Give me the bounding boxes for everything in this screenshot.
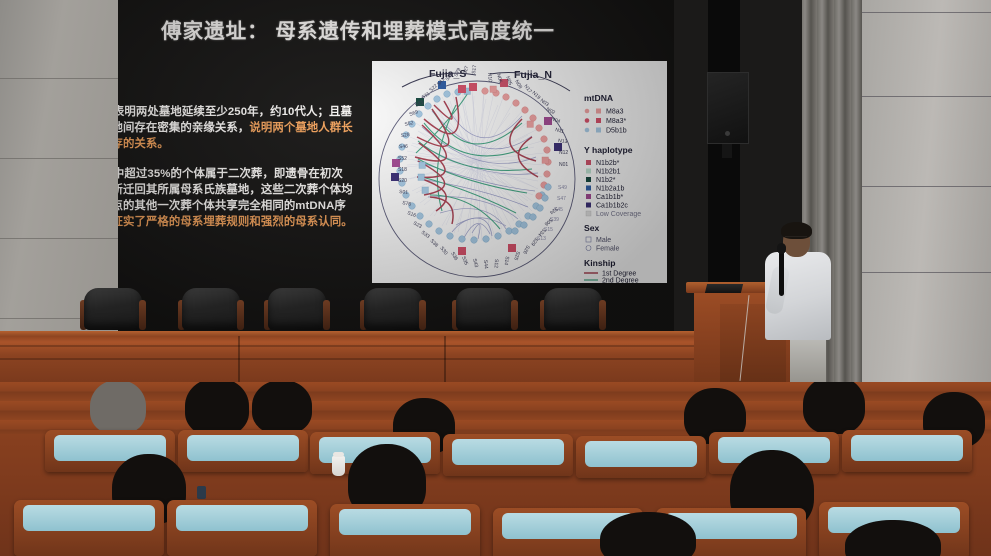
audience-seat[interactable] bbox=[576, 436, 706, 478]
svg-text:1st Degree: 1st Degree bbox=[602, 271, 636, 278]
svg-text:Ca1b1b2c: Ca1b1b2c bbox=[596, 203, 628, 210]
svg-text:D5b1b: D5b1b bbox=[606, 128, 627, 135]
svg-text:mtDNA: mtDNA bbox=[584, 93, 613, 103]
audience-seat[interactable] bbox=[14, 500, 164, 556]
phone-device bbox=[197, 486, 206, 499]
bullet-2-highlight: 进一步证实了严格的母系埋葬规则和强烈的母系认同。 bbox=[118, 216, 353, 228]
speaker-mount bbox=[722, 144, 732, 158]
podium-laptop bbox=[705, 284, 743, 293]
audience-seat[interactable] bbox=[178, 430, 308, 472]
svg-text:S15: S15 bbox=[544, 227, 553, 233]
svg-text:2nd Degree: 2nd Degree bbox=[602, 278, 639, 284]
audience-seat[interactable] bbox=[330, 504, 480, 556]
svg-text:S49: S49 bbox=[558, 185, 567, 191]
svg-text:S44: S44 bbox=[482, 260, 489, 270]
svg-text:Female: Female bbox=[596, 246, 619, 253]
y-hap-marker bbox=[458, 247, 466, 255]
network-svg: Fujia_S Fujia_N bbox=[372, 61, 667, 283]
svg-text:S46: S46 bbox=[399, 144, 408, 150]
stage-chair bbox=[360, 288, 426, 336]
audience-seat[interactable] bbox=[167, 500, 317, 556]
lecture-hall-photo: 傅家遗址： 母系遗传和埋葬模式高度统一 1. 测年证据表明两处墓地延续至少250… bbox=[0, 0, 991, 556]
svg-text:S17: S17 bbox=[471, 64, 478, 74]
audience-seat[interactable] bbox=[443, 434, 573, 476]
svg-text:S39: S39 bbox=[550, 217, 559, 223]
right-wall-panels bbox=[860, 0, 991, 400]
svg-text:S12: S12 bbox=[493, 259, 499, 268]
bullet-2: 2. 南区墓葬中超过35%的个体属于二次葬，即遗骨在初次埋葬后被重新迁回其所属母… bbox=[118, 166, 354, 231]
svg-text:N10: N10 bbox=[486, 73, 493, 83]
bullet-1: 1. 测年证据表明两处墓地延续至少250年，约10代人；且墓地内部及墓地间存在密… bbox=[118, 104, 354, 153]
svg-text:M8a3*: M8a3* bbox=[606, 118, 627, 125]
svg-text:Kinship: Kinship bbox=[584, 258, 616, 268]
speaker-legs bbox=[790, 336, 826, 382]
stage-chair bbox=[452, 288, 518, 336]
svg-text:N12: N12 bbox=[559, 150, 568, 156]
svg-text:S28: S28 bbox=[401, 132, 411, 139]
audience-head bbox=[185, 382, 249, 436]
svg-text:N13: N13 bbox=[558, 138, 568, 145]
svg-text:S01: S01 bbox=[399, 189, 409, 196]
projection-screen: 傅家遗址： 母系遗传和埋葬模式高度统一 1. 测年证据表明两处墓地延续至少250… bbox=[118, 0, 674, 335]
svg-text:S18: S18 bbox=[398, 167, 407, 173]
svg-text:Sex: Sex bbox=[584, 223, 600, 233]
svg-text:S13: S13 bbox=[537, 236, 546, 242]
svg-text:Male: Male bbox=[596, 237, 611, 244]
svg-text:Ca1b1b*: Ca1b1b* bbox=[596, 194, 624, 201]
audience-area bbox=[0, 382, 991, 556]
y-hap-marker bbox=[508, 244, 516, 252]
svg-text:S45: S45 bbox=[554, 207, 563, 213]
svg-text:S47: S47 bbox=[557, 196, 566, 202]
svg-text:N1b2a1b: N1b2a1b bbox=[596, 186, 625, 193]
stage-chair bbox=[80, 288, 146, 336]
svg-text:M8a3: M8a3 bbox=[606, 109, 624, 116]
microphone-icon bbox=[779, 250, 784, 296]
svg-text:N1b2*: N1b2* bbox=[596, 177, 616, 184]
stage-chair bbox=[178, 288, 244, 336]
kinship-network-figure: Fujia_S Fujia_N bbox=[372, 61, 667, 283]
svg-text:N1b2b1: N1b2b1 bbox=[596, 169, 621, 176]
audience-head bbox=[600, 512, 696, 556]
wall-speaker-icon bbox=[707, 72, 749, 144]
svg-text:N01: N01 bbox=[559, 162, 568, 168]
svg-text:S20: S20 bbox=[398, 178, 407, 184]
slide-bullets: 1. 测年证据表明两处墓地延续至少250年，约10代人；且墓地内部及墓地间存在密… bbox=[118, 104, 354, 243]
paper-cup bbox=[332, 456, 345, 476]
stage-chair bbox=[540, 288, 606, 336]
audience-head bbox=[803, 382, 865, 434]
audience-seat[interactable] bbox=[842, 430, 972, 472]
y-hap-marker bbox=[458, 85, 466, 93]
svg-text:N1b2b*: N1b2b* bbox=[596, 160, 620, 167]
stage-chair bbox=[264, 288, 330, 336]
svg-text:Low Coverage: Low Coverage bbox=[596, 211, 641, 218]
audience-head bbox=[252, 382, 312, 434]
slide-title: 傅家遗址： 母系遗传和埋葬模式高度统一 bbox=[118, 14, 638, 44]
svg-text:S52: S52 bbox=[398, 156, 407, 162]
y-hap-marker bbox=[469, 83, 477, 91]
svg-text:Y haplotype: Y haplotype bbox=[584, 145, 633, 155]
glasses-icon bbox=[785, 236, 807, 241]
audience-head bbox=[90, 382, 146, 434]
